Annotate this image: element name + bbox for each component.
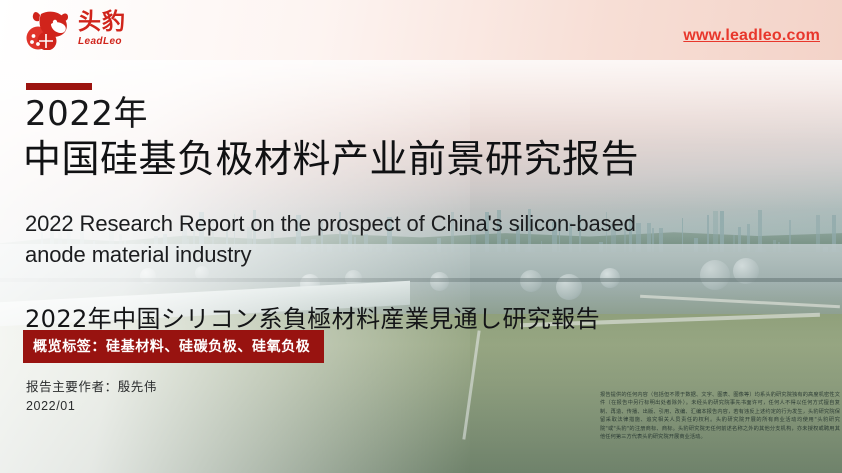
report-title-english: 2022 Research Report on the prospect of … [25,208,685,270]
accent-bar [26,83,92,90]
legal-disclaimer: 报告提供的任何内容（包括但不限于数据、文字、图表、图像等）均系头豹研究院独有的高… [600,391,840,442]
report-author: 报告主要作者：殷先伟 [26,376,157,395]
report-title-japanese: 2022年中国シリコン系負極材料産業見通し研究報告 [25,299,600,334]
report-title-chinese: 中国硅基负极材料产业前景研究报告 [23,136,639,184]
report-cover-page: 头豹 LeadLeo www.leadleo.com 2022年 中国硅基负极材… [0,0,842,473]
report-year: 2022年 [25,96,148,133]
overview-tags-banner: 概览标签：硅基材料、硅碳负极、硅氧负极 [23,330,324,363]
cover-content: 2022年 中国硅基负极材料产业前景研究报告 2022 Research Rep… [0,0,842,473]
report-date: 2022/01 [26,399,75,413]
